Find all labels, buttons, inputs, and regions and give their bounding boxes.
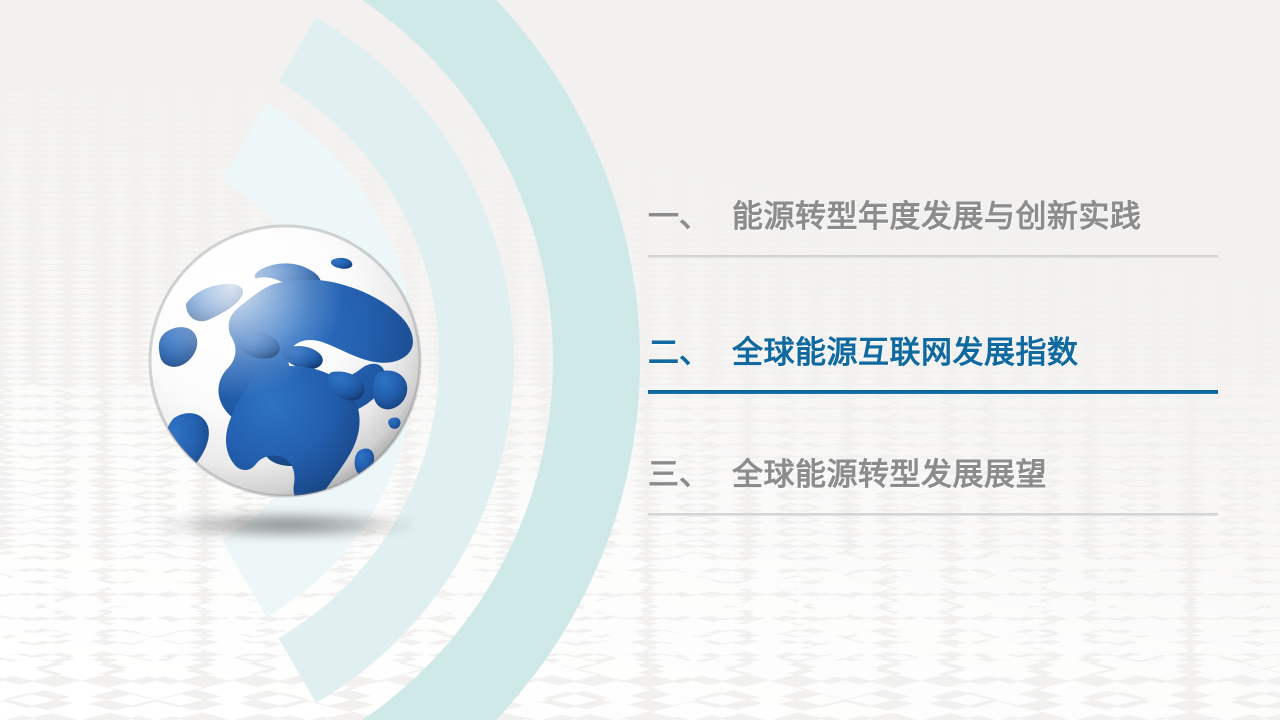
agenda-item-3-number: 三、 bbox=[648, 444, 710, 506]
agenda-item-2-label: 全球能源互联网发展指数 bbox=[732, 322, 1079, 384]
agenda-item-2-number: 二、 bbox=[648, 322, 710, 384]
agenda-item-3-label: 全球能源转型发展展望 bbox=[732, 444, 1047, 506]
globe-shadow bbox=[164, 510, 412, 540]
agenda-item-1-underline bbox=[648, 255, 1218, 258]
agenda-item-2[interactable]: 二、 全球能源互联网发展指数 bbox=[648, 322, 1218, 394]
globe-graphic bbox=[146, 222, 424, 510]
agenda-item-2-underline bbox=[648, 390, 1218, 394]
agenda-item-3-underline bbox=[648, 513, 1218, 516]
agenda-item-1[interactable]: 一、 能源转型年度发展与创新实践 bbox=[648, 186, 1218, 258]
globe-sphere bbox=[146, 222, 424, 500]
agenda-item-3[interactable]: 三、 全球能源转型发展展望 bbox=[648, 444, 1218, 516]
agenda-item-1-label: 能源转型年度发展与创新实践 bbox=[732, 186, 1142, 248]
presentation-slide: 一、 能源转型年度发展与创新实践 二、 全球能源互联网发展指数 三、 全球能源转… bbox=[0, 0, 1280, 720]
agenda-item-1-number: 一、 bbox=[648, 186, 710, 248]
